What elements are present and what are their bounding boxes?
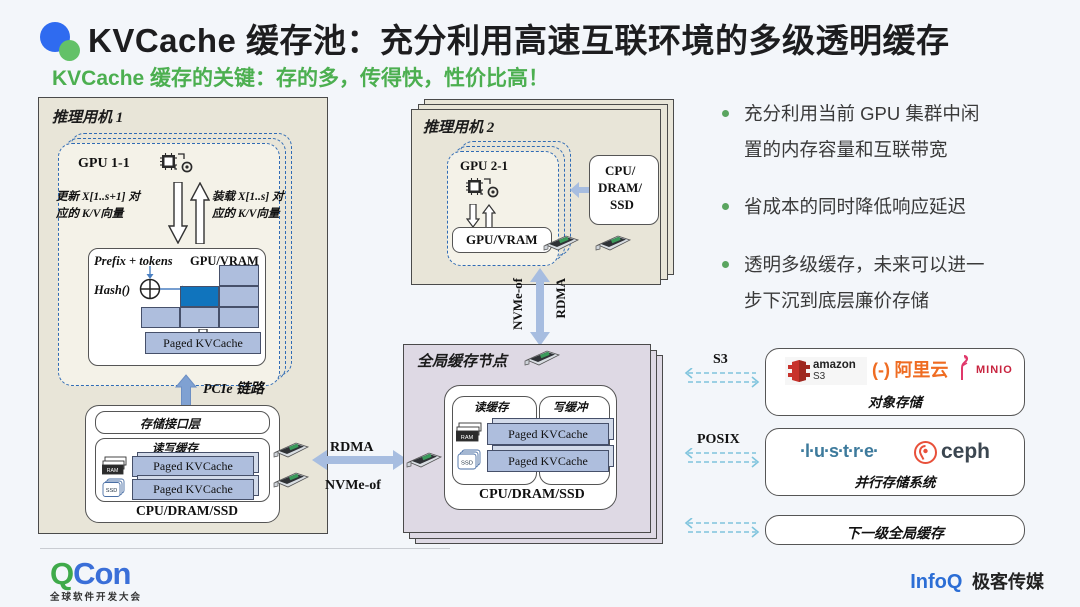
global-ssd-icon: SSD <box>456 449 485 471</box>
prefix-to-hash-arrow <box>144 266 156 280</box>
gpu2-vram-label: GPU/VRAM <box>466 232 538 248</box>
nic-card-icon-5 <box>523 348 561 368</box>
infoq-logo: InfoQ 极客传媒 <box>910 568 1044 594</box>
update-kv-label-line1: 更新 X[1..s+1] 对 <box>56 188 140 204</box>
minio-flamingo-icon <box>955 354 971 382</box>
parallel-storage-caption: 并行存储系统 <box>765 471 1025 491</box>
gpu-1-1-label: GPU 1-1 <box>78 156 130 172</box>
page-subtitle: KVCache 缓存的关键：存的多，传得快，性价比高！ <box>52 62 549 92</box>
ram-icon: RAM <box>102 456 129 476</box>
global-cpu-label: CPU/DRAM/SSD <box>479 487 585 503</box>
svg-text:SSD: SSD <box>461 461 473 467</box>
node2-cpu-line1: CPU/ <box>605 163 635 179</box>
bullet-2-line1: 透明多级缓存，未来可以进一 <box>744 249 985 281</box>
lustre-logo: ·l·u·s·t·r·e· <box>800 441 878 462</box>
paged-kvcache-vram: Paged KVCache <box>145 332 261 354</box>
arrow-down-update <box>168 182 188 244</box>
minio-label: MINIO <box>976 364 1013 376</box>
load-kv-label-line1: 装载 X[1..s] 对 <box>212 188 284 204</box>
s3-label: S3 <box>813 371 825 382</box>
vram-block-r2c2 <box>180 286 219 307</box>
ssd-icon: SSD <box>102 478 129 498</box>
bullet-dot-1 <box>722 203 729 210</box>
s3-dashed-arrow <box>682 368 762 388</box>
read-cache-label: 读缓存 <box>474 399 509 415</box>
global-paged-kvcache-2: Paged KVCache <box>487 450 609 472</box>
bullet-1-line1: 省成本的同时降低响应延迟 <box>744 191 966 223</box>
global-paged-kvcache-1: Paged KVCache <box>487 423 609 445</box>
next-level-cache-caption: 下一级全局缓存 <box>765 523 1025 543</box>
nic-card-icon-1 <box>272 440 310 460</box>
footer-divider <box>40 548 450 549</box>
vertical-rdma-label: RDMA <box>553 278 569 318</box>
qcon-q-letter: Q <box>50 556 73 591</box>
vertical-rdma-arrow <box>527 268 553 346</box>
aliyun-logo: (-) 阿里云 <box>872 356 948 382</box>
paged-kvcache-ssd: Paged KVCache <box>132 479 254 500</box>
load-kv-label-line2: 应的 K/V向量 <box>212 205 279 221</box>
infoq-q-letter: Q <box>947 571 963 593</box>
gpu-2-1-label: GPU 2-1 <box>460 158 508 174</box>
bullet-2-line2: 步下沉到底层廉价存储 <box>744 285 929 317</box>
nic-card-icon-6 <box>405 450 443 470</box>
rdma-label: RDMA <box>330 440 374 456</box>
svg-text:SSD: SSD <box>106 488 118 494</box>
global-ram-icon: RAM <box>456 422 485 443</box>
node1-cpu-label: CPU/DRAM/SSD <box>136 503 238 519</box>
amazon-label: amazon <box>813 359 856 371</box>
gpu2-arrow-down <box>466 204 480 228</box>
arrow-up-load <box>190 182 210 244</box>
svg-text:RAM: RAM <box>461 435 474 441</box>
nic-card-icon-2 <box>272 470 310 490</box>
ceph-label: ceph <box>941 440 990 464</box>
next-level-dashed-arrow <box>682 518 762 538</box>
object-storage-caption: 对象存储 <box>765 391 1025 411</box>
panel-infer-node-2-title: 推理用机 2 <box>423 116 494 137</box>
gpu-chip-icon-2 <box>466 177 500 205</box>
qcon-con-letters: Con <box>73 556 130 591</box>
bullet-0-line2: 置的内存容量和互联带宽 <box>744 134 948 166</box>
node2-cpu-line2: DRAM/ <box>598 180 642 196</box>
panel-global-cache-title: 全局缓存节点 <box>417 350 507 371</box>
prefix-tokens-label: Prefix + tokens <box>94 254 173 269</box>
nvmeof-label: NVMe-of <box>325 478 381 494</box>
vram-block-r1c2 <box>180 307 219 328</box>
amazon-s3-logo: amazon S3 <box>785 357 867 385</box>
vram-block-r1c1 <box>141 307 180 328</box>
bullet-0-line1: 充分利用当前 GPU 集群中闲 <box>744 98 979 130</box>
gpu-chip-icon <box>160 152 194 180</box>
vram-block-r3c3 <box>219 265 259 286</box>
pcie-link-label: PCIe 链路 <box>203 378 264 398</box>
storage-iface-label: 存储接口层 <box>140 415 200 432</box>
nic-card-icon-4 <box>594 233 632 253</box>
panel-infer-node-1-title: 推理用机 1 <box>52 106 123 127</box>
aliyun-mark: (-) <box>872 360 890 380</box>
pcie-arrow <box>174 374 198 408</box>
nic-card-icon-3 <box>542 233 580 253</box>
kvcache-dual-circle-icon <box>40 22 86 62</box>
hash-label: Hash() <box>94 283 130 298</box>
node2-cpu-line3: SSD <box>610 197 634 213</box>
qcon-subtitle: 全球软件开发大会 <box>50 589 142 603</box>
aliyun-label: 阿里云 <box>894 360 948 380</box>
update-kv-label-line2: 应的 K/V向量 <box>56 205 123 221</box>
vertical-nvmeof-label: NVMe-of <box>510 278 526 330</box>
bullet-dot-0 <box>722 110 729 117</box>
page-title: KVCache 缓存池：充分利用高速互联环境的多级透明缓存 <box>88 14 950 62</box>
write-buffer-label: 写缓冲 <box>553 399 588 415</box>
hash-plus-icon <box>139 278 161 300</box>
vram-block-r2c3 <box>219 286 259 307</box>
gpu2-arrow-up <box>482 204 496 228</box>
slide-root: KVCache 缓存池：充分利用高速互联环境的多级透明缓存 KVCache 缓存… <box>0 0 1080 607</box>
bullet-dot-2 <box>722 261 729 268</box>
ceph-icon <box>913 440 938 465</box>
paged-kvcache-ram: Paged KVCache <box>132 456 254 477</box>
infoq-info-letters: Info <box>910 571 947 593</box>
s3-protocol-label: S3 <box>713 352 728 368</box>
posix-protocol-label: POSIX <box>697 432 740 448</box>
vram-block-r1c3 <box>219 307 259 328</box>
infoq-cn-label: 极客传媒 <box>972 572 1044 592</box>
posix-dashed-arrow <box>682 448 762 468</box>
svg-text:RAM: RAM <box>107 468 119 474</box>
qcon-logo: QCon 全球软件开发大会 <box>50 556 142 603</box>
